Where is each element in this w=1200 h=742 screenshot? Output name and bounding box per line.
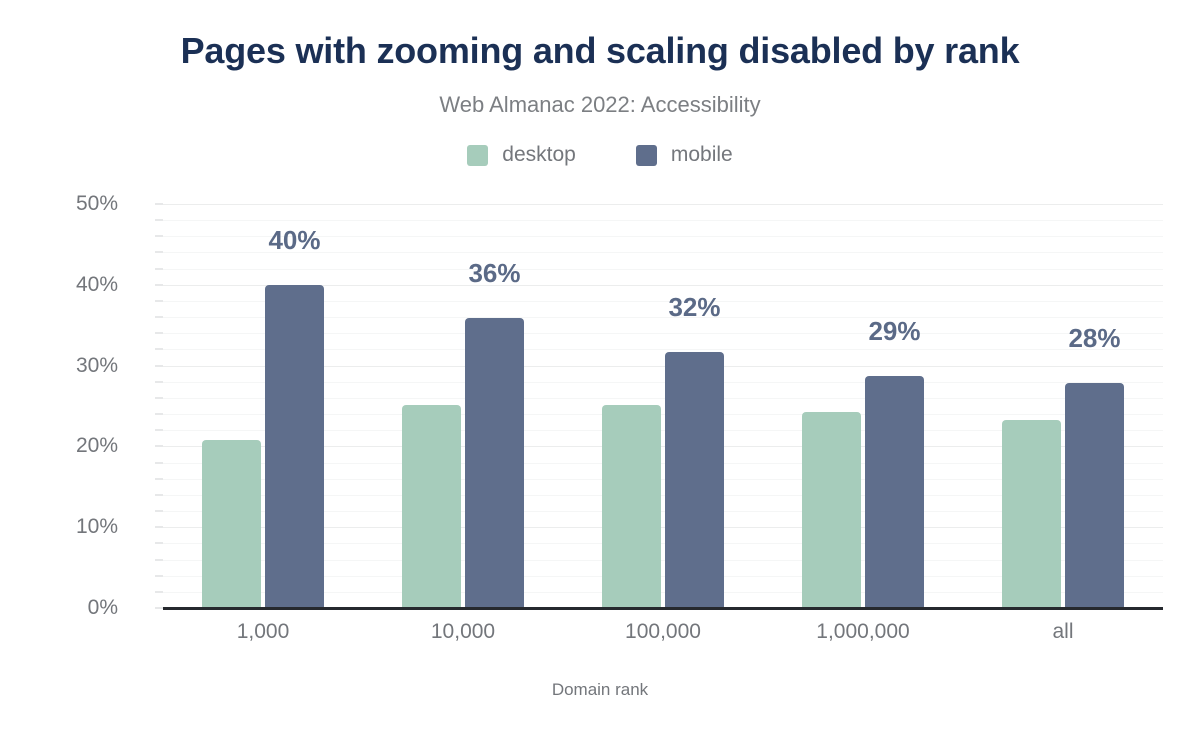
y-tick-mark: [155, 527, 163, 528]
plot-area: 40%36%32%29%28%: [163, 204, 1163, 608]
y-tick-mark: [155, 608, 163, 609]
legend-swatch-desktop: [467, 145, 488, 166]
chart-subtitle: Web Almanac 2022: Accessibility: [0, 92, 1200, 118]
chart-title: Pages with zooming and scaling disabled …: [0, 30, 1200, 72]
y-tick-label: 40%: [0, 273, 118, 297]
legend-item-desktop[interactable]: desktop: [467, 143, 576, 167]
y-tick-label: 10%: [0, 515, 118, 539]
x-tick-label: 1,000: [237, 620, 290, 644]
y-tick-mark: [155, 397, 163, 398]
y-tick-mark: [155, 543, 163, 544]
bar-series: 40%36%32%29%28%: [163, 204, 1163, 608]
bar-desktop-1000000[interactable]: [802, 412, 861, 608]
y-tick-mark: [155, 204, 163, 205]
y-tick-mark: [155, 494, 163, 495]
chart-legend: desktop mobile: [0, 143, 1200, 167]
y-tick-mark: [155, 317, 163, 318]
y-tick-mark: [155, 462, 163, 463]
bar-value-label: 29%: [868, 316, 920, 347]
x-tick-label: all: [1052, 620, 1073, 644]
y-tick-mark: [155, 414, 163, 415]
y-tick-mark: [155, 349, 163, 350]
bar-value-label: 40%: [268, 225, 320, 256]
bar-mobile-10000[interactable]: [465, 318, 524, 608]
y-tick-label: 50%: [0, 192, 118, 216]
y-tick-mark: [155, 575, 163, 576]
bar-mobile-all[interactable]: [1065, 383, 1124, 608]
y-tick-mark: [155, 300, 163, 301]
x-axis-line: [163, 607, 1163, 610]
bar-mobile-1000000[interactable]: [865, 376, 924, 608]
y-tick-mark: [155, 268, 163, 269]
y-tick-mark: [155, 591, 163, 592]
bar-value-label: 32%: [668, 292, 720, 323]
y-tick-mark: [155, 511, 163, 512]
y-tick-mark: [155, 381, 163, 382]
x-tick-label: 1,000,000: [816, 620, 909, 644]
y-tick-label: 30%: [0, 354, 118, 378]
bar-desktop-all[interactable]: [1002, 420, 1061, 608]
y-tick-mark: [155, 236, 163, 237]
x-tick-label: 10,000: [431, 620, 495, 644]
bar-value-label: 36%: [468, 258, 520, 289]
y-tick-mark: [155, 365, 163, 366]
legend-label-desktop: desktop: [502, 143, 576, 167]
y-tick-mark: [155, 252, 163, 253]
y-tick-mark: [155, 430, 163, 431]
y-tick-mark: [155, 478, 163, 479]
x-axis-title: Domain rank: [0, 680, 1200, 700]
bar-desktop-100000[interactable]: [602, 405, 661, 608]
y-tick-mark: [155, 559, 163, 560]
bar-desktop-10000[interactable]: [402, 405, 461, 608]
y-tick-mark: [155, 220, 163, 221]
bar-desktop-1000[interactable]: [202, 440, 261, 608]
bar-value-label: 28%: [1068, 323, 1120, 354]
legend-swatch-mobile: [636, 145, 657, 166]
x-tick-label: 100,000: [625, 620, 701, 644]
legend-label-mobile: mobile: [671, 143, 733, 167]
y-tick-mark: [155, 284, 163, 285]
bar-mobile-1000[interactable]: [265, 285, 324, 608]
y-tick-mark: [155, 333, 163, 334]
y-tick-label: 0%: [0, 596, 118, 620]
y-tick-label: 20%: [0, 434, 118, 458]
chart-container: Pages with zooming and scaling disabled …: [0, 0, 1200, 742]
y-tick-mark: [155, 446, 163, 447]
bar-mobile-100000[interactable]: [665, 352, 724, 608]
legend-item-mobile[interactable]: mobile: [636, 143, 733, 167]
